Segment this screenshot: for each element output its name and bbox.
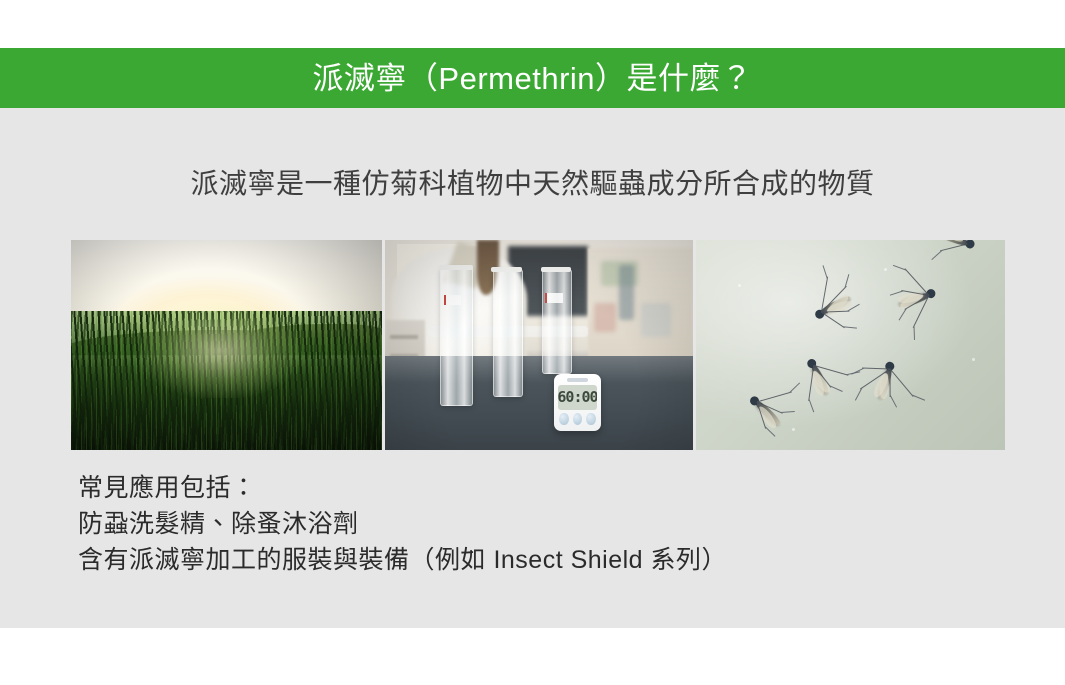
content-panel: 派滅寧是一種仿菊科植物中天然驅蟲成分所合成的物質 [0, 108, 1065, 628]
photo-vignette [71, 240, 382, 450]
dead-mosquitoes-photo [696, 240, 1005, 450]
surface-speck [972, 358, 975, 361]
title-bar: 派滅寧（Permethrin）是什麼？ [0, 48, 1065, 108]
lab-photo-vignette [385, 240, 693, 450]
body-line-1: 常見應用包括： [78, 470, 727, 506]
image-strip: 60:00 [71, 240, 1005, 450]
body-line-2: 防蝨洗髮精、除蚤沐浴劑 [78, 506, 727, 542]
subtitle-text: 派滅寧是一種仿菊科植物中天然驅蟲成分所合成的物質 [0, 162, 1065, 202]
mosquito-surface-background [696, 240, 1005, 450]
laboratory-bench-photo: 60:00 [385, 240, 693, 450]
surface-speck [738, 284, 741, 287]
slide-root: 派滅寧（Permethrin）是什麼？ 派滅寧是一種仿菊科植物中天然驅蟲成分所合… [0, 0, 1065, 685]
surface-speck [792, 428, 795, 431]
body-copy: 常見應用包括： 防蝨洗髮精、除蚤沐浴劑 含有派滅寧加工的服裝與裝備（例如 Ins… [78, 470, 727, 578]
top-white-strip [0, 0, 1065, 48]
body-line-3: 含有派滅寧加工的服裝與裝備（例如 Insect Shield 系列） [78, 542, 727, 578]
mosquito-leg [890, 369, 891, 397]
grass-field-sunrise-photo [71, 240, 382, 450]
page-title: 派滅寧（Permethrin）是什麼？ [312, 63, 752, 94]
bottom-white-strip [0, 628, 1065, 685]
surface-speck [884, 268, 887, 271]
